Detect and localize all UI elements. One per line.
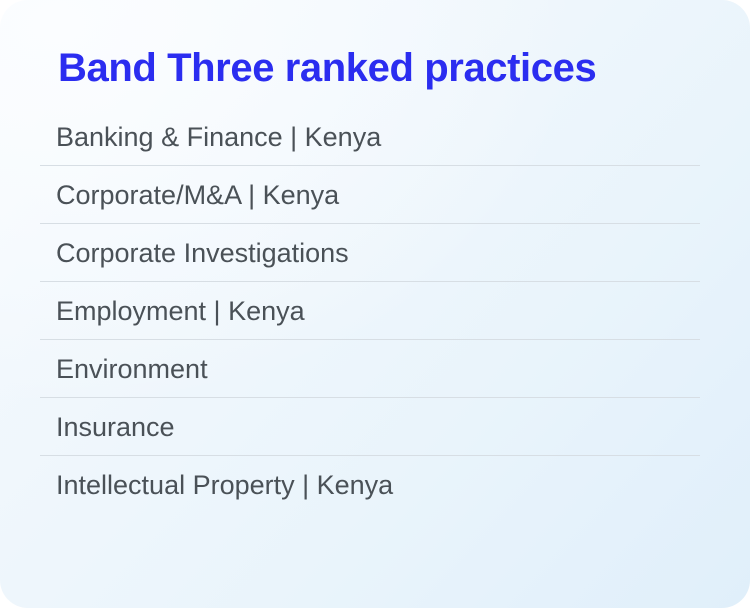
practice-label: Employment | Kenya [56, 294, 305, 328]
practice-label: Environment [56, 352, 208, 386]
list-item[interactable]: Environment [40, 340, 700, 398]
practice-label: Intellectual Property | Kenya [56, 468, 393, 502]
list-item[interactable]: Employment | Kenya [40, 282, 700, 340]
list-item[interactable]: Banking & Finance | Kenya [40, 108, 700, 166]
practice-label: Corporate Investigations [56, 236, 349, 270]
screen-root: Band Three ranked practices Banking & Fi… [0, 0, 750, 608]
list-item[interactable]: Corporate/M&A | Kenya [40, 166, 700, 224]
page-title: Band Three ranked practices [58, 44, 596, 92]
list-item[interactable]: Corporate Investigations [40, 224, 700, 282]
practice-list: Banking & Finance | Kenya Corporate/M&A … [40, 108, 700, 514]
band-three-practices-card: Band Three ranked practices Banking & Fi… [0, 0, 750, 608]
practice-label: Corporate/M&A | Kenya [56, 178, 339, 212]
list-item[interactable]: Intellectual Property | Kenya [40, 456, 700, 514]
practice-label: Banking & Finance | Kenya [56, 120, 381, 154]
practice-label: Insurance [56, 410, 175, 444]
list-item[interactable]: Insurance [40, 398, 700, 456]
